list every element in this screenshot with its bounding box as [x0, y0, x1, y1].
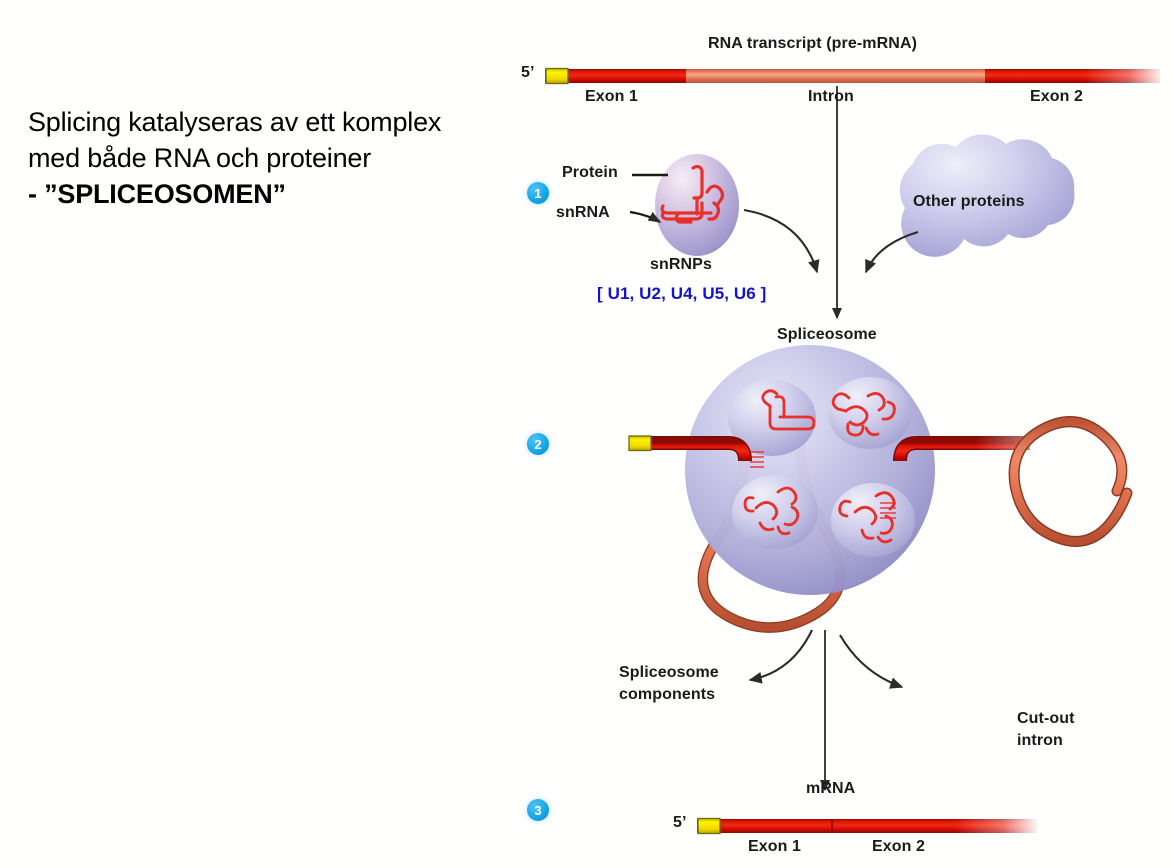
slide-canvas: Splicing katalyseras av ett komplex med … — [0, 0, 1174, 868]
spliceosome-figure: RNA transcript (pre-mRNA) 5’ Exon 1 Intr… — [0, 0, 1174, 868]
pre-mrna-transcript-bar — [545, 67, 1165, 85]
mrna-exon1-label: Exon 1 — [748, 838, 801, 856]
mrna-exon2-label: Exon 2 — [872, 838, 925, 856]
assembly-arrows — [744, 86, 918, 318]
step-number-2: 2 — [527, 433, 549, 455]
mrna-five-prime-label: 5’ — [673, 814, 687, 832]
spliceosome-components-label-line2: components — [619, 686, 715, 704]
other-proteins-label: Other proteins — [913, 193, 1025, 211]
spliceosome-components-label-line1: Spliceosome — [619, 664, 719, 682]
transcript-intron-label: Intron — [808, 88, 854, 106]
spliceosome-complex — [629, 345, 1055, 628]
transcript-five-prime-label: 5’ — [521, 64, 535, 82]
figure-vector-layer — [0, 0, 1174, 868]
transcript-title: RNA transcript (pre-mRNA) — [708, 35, 917, 53]
mrna-title: mRNA — [806, 780, 855, 798]
step-number-1: 1 — [527, 182, 549, 204]
spliceosome-label: Spliceosome — [777, 326, 877, 344]
snrnps-label: snRNPs — [650, 256, 712, 274]
step-number-3: 3 — [527, 799, 549, 821]
protein-label: Protein — [562, 164, 618, 182]
snrnp-particle — [655, 154, 739, 256]
cut-out-intron-lariat — [1014, 422, 1127, 542]
snrnp-subunits-label: [ U1, U2, U4, U5, U6 ] — [597, 284, 766, 304]
snrna-label: snRNA — [556, 204, 610, 222]
transcript-exon1-label: Exon 1 — [585, 88, 638, 106]
cutout-intron-label-line1: Cut-out — [1017, 710, 1075, 728]
mature-mrna-bar — [697, 817, 1040, 835]
release-arrows — [750, 630, 902, 790]
cutout-intron-label-line2: intron — [1017, 732, 1063, 750]
transcript-exon2-label: Exon 2 — [1030, 88, 1083, 106]
